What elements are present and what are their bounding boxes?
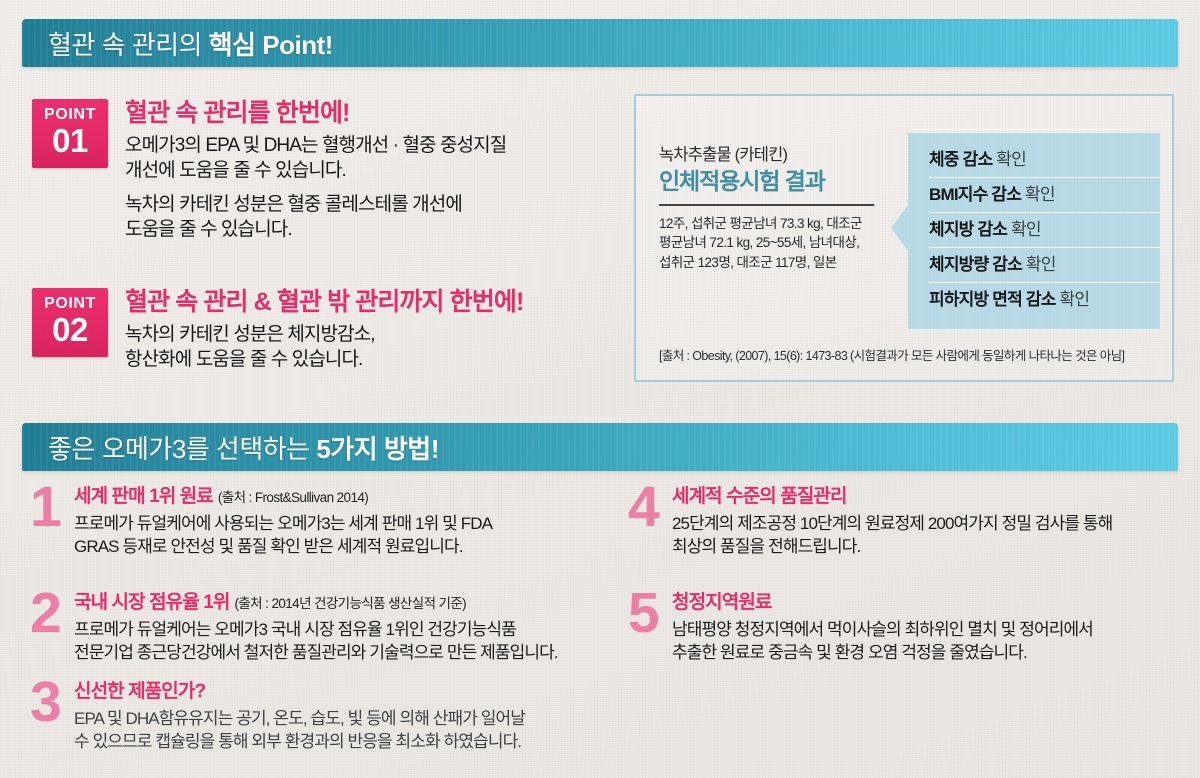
clinical-study-box: 녹차추출물 (카테킨) 인체적용시험 결과 12주, 섭취군 평균남녀 73.3…: [634, 94, 1174, 382]
reason-2-line-1: 프로메가 듀얼케어는 오메가3 국내 시장 점유율 1위인 건강기능식품: [74, 618, 558, 641]
reason-5-line-2: 추출한 원료로 중금속 및 환경 오염 걱정을 줄였습니다.: [672, 641, 1093, 664]
point-title-02: 혈관 속 관리 & 혈관 밖 관리까지 한번에!: [125, 288, 523, 318]
reason-4-line-1: 25단계의 제조공정 10단계의 원료정제 200여가지 정밀 검사를 통해: [672, 512, 1112, 535]
reason-heading-4: 세계적 수준의 품질관리: [672, 486, 1112, 509]
result-item: 체지방량 감소 확인: [929, 248, 1160, 283]
reason-item-5: 5 청정지역원료 남태평양 청정지역에서 먹이사슬의 최하위인 멸치 및 정어리…: [628, 592, 1093, 664]
point-paragraph-01-a: 오메가3의 EPA 및 DHA는 혈행개선 · 혈중 중성지질 개선에 도움을 …: [125, 133, 506, 184]
result-item: 피하지방 면적 감소 확인: [929, 283, 1160, 317]
reason-heading-2-text: 국내 시장 점유율 1위: [74, 592, 229, 613]
reason-heading-1: 세계 판매 1위 원료(출처 : Frost&Sullivan 2014): [74, 486, 492, 509]
section-header-five-ways: 좋은 오메가3를 선택하는 5가지 방법!: [22, 423, 1178, 471]
point-01-a-line-2: 개선에 도움을 줄 수 있습니다.: [125, 158, 506, 183]
reason-item-4: 4 세계적 수준의 품질관리 25단계의 제조공정 10단계의 원료정제 200…: [628, 486, 1112, 558]
reason-number-1: 1: [30, 484, 70, 531]
point-paragraph-01-b: 녹차의 카테킨 성분은 혈중 콜레스테롤 개선에 도움을 줄 수 있습니다.: [125, 192, 506, 243]
reason-heading-2-note: (출처 : 2014년 건강기능식품 생산실적 기준): [234, 596, 466, 611]
point-02-a-line-2: 항산화에 도움을 줄 수 있습니다.: [125, 347, 523, 372]
reason-text-5: 남태평양 청정지역에서 먹이사슬의 최하위인 멸치 및 정어리에서 추출한 원료…: [672, 618, 1093, 664]
point-01-b-line-2: 도움을 줄 수 있습니다.: [125, 217, 506, 242]
reason-item-3: 3 신선한 제품인가? EPA 및 DHA함유유지는 공기, 온도, 습도, 빛…: [30, 681, 525, 753]
reason-number-4: 4: [628, 484, 668, 531]
section-header-1-strong: 핵심 Point!: [209, 30, 333, 60]
reason-text-2: 프로메가 듀얼케어는 오메가3 국내 시장 점유율 1위인 건강기능식품 전문기…: [74, 618, 558, 664]
point-badge-02-number: 02: [32, 313, 108, 348]
reason-2-line-2: 전문기업 종근당건강에서 철저한 품질관리와 기술력으로 만든 제품입니다.: [74, 641, 558, 664]
reason-number-3: 3: [30, 679, 70, 726]
result-item-main: 체지방 감소: [929, 220, 1007, 239]
reason-heading-4-text: 세계적 수준의 품질관리: [672, 486, 847, 507]
reason-item-2: 2 국내 시장 점유율 1위(출처 : 2014년 건강기능식품 생산실적 기준…: [30, 592, 558, 664]
reason-3-line-1: EPA 및 DHA함유유지는 공기, 온도, 습도, 빛 등에 의해 산패가 일…: [74, 707, 525, 730]
point-block-02: POINT 02 혈관 속 관리 & 혈관 밖 관리까지 한번에! 녹차의 카테…: [32, 288, 523, 372]
reason-heading-1-note: (출처 : Frost&Sullivan 2014): [218, 490, 368, 505]
result-item-main: BMI지수 감소: [929, 185, 1021, 204]
reason-1-line-2: GRAS 등재로 안전성 및 품질 확인 받은 세계적 원료입니다.: [74, 535, 492, 558]
section-header-core-points: 혈관 속 관리의 핵심 Point!: [22, 19, 1178, 67]
point-title-01: 혈관 속 관리를 한번에!: [125, 99, 506, 129]
reason-text-1: 프로메가 듀얼케어에 사용되는 오메가3는 세계 판매 1위 및 FDA GRA…: [74, 512, 492, 558]
reason-body-1: 세계 판매 1위 원료(출처 : Frost&Sullivan 2014) 프로…: [70, 486, 492, 558]
study-meta-line-3: 섭취군 123명, 대조군 117명, 일본: [659, 253, 927, 272]
section-header-2-strong: 5가지 방법!: [316, 434, 439, 464]
reason-4-line-2: 최상의 품질을 전해드립니다.: [672, 535, 1112, 558]
study-meta: 12주, 섭취군 평균남녀 73.3 kg, 대조군 평균남녀 72.1 kg,…: [659, 214, 927, 271]
reason-heading-1-text: 세계 판매 1위 원료: [74, 486, 213, 507]
result-item: BMI지수 감소 확인: [929, 178, 1160, 213]
reason-text-3: EPA 및 DHA함유유지는 공기, 온도, 습도, 빛 등에 의해 산패가 일…: [74, 707, 525, 753]
point-01-a-line-1: 오메가3의 EPA 및 DHA는 혈행개선 · 혈중 중성지질: [125, 133, 506, 158]
study-meta-line-2: 평균남녀 72.1 kg, 25~55세, 남녀대상,: [659, 233, 927, 252]
reason-body-5: 청정지역원료 남태평양 청정지역에서 먹이사슬의 최하위인 멸치 및 정어리에서…: [668, 592, 1093, 664]
result-item-suffix: 확인: [1025, 185, 1055, 204]
reason-heading-3-text: 신선한 제품인가?: [74, 681, 205, 702]
study-source-citation: [출처 : Obesity, (2007), 15(6): 1473-83 (시…: [659, 345, 1124, 364]
point-body-01: 혈관 속 관리를 한번에! 오메가3의 EPA 및 DHA는 혈행개선 · 혈중…: [108, 99, 506, 243]
point-body-02: 혈관 속 관리 & 혈관 밖 관리까지 한번에! 녹차의 카테킨 성분은 체지방…: [108, 288, 523, 372]
result-item-main: 체중 감소: [929, 150, 992, 169]
result-item-main: 피하지방 면적 감소: [929, 290, 1056, 309]
reason-5-line-1: 남태평양 청정지역에서 먹이사슬의 최하위인 멸치 및 정어리에서: [672, 618, 1093, 641]
reason-body-3: 신선한 제품인가? EPA 및 DHA함유유지는 공기, 온도, 습도, 빛 등…: [70, 681, 525, 753]
reason-1-line-1: 프로메가 듀얼케어에 사용되는 오메가3는 세계 판매 1위 및 FDA: [74, 512, 492, 535]
result-item: 체지방 감소 확인: [929, 213, 1160, 248]
result-item-main: 체지방량 감소: [929, 255, 1022, 274]
reason-heading-5: 청정지역원료: [672, 592, 1093, 615]
result-item-suffix: 확인: [1011, 220, 1041, 239]
study-divider: [659, 204, 874, 206]
reason-3-line-2: 수 있으므로 캡슐링을 통해 외부 환경과의 반응을 최소화 하였습니다.: [74, 730, 525, 753]
result-item-suffix: 확인: [1026, 255, 1056, 274]
reason-heading-3: 신선한 제품인가?: [74, 681, 525, 704]
study-kicker: 녹차추출물 (카테킨): [659, 145, 927, 166]
study-summary: 녹차추출물 (카테킨) 인체적용시험 결과 12주, 섭취군 평균남녀 73.3…: [659, 145, 927, 272]
section-header-1-text: 혈관 속 관리의 핵심 Point!: [22, 25, 333, 62]
section-header-2-lead: 좋은 오메가3를 선택하는: [48, 434, 316, 464]
point-block-01: POINT 01 혈관 속 관리를 한번에! 오메가3의 EPA 및 DHA는 …: [32, 99, 506, 243]
reason-heading-5-text: 청정지역원료: [672, 592, 771, 613]
point-badge-02: POINT 02: [32, 288, 108, 357]
study-meta-line-1: 12주, 섭취군 평균남녀 73.3 kg, 대조군: [659, 214, 927, 233]
point-01-b-line-1: 녹차의 카테킨 성분은 혈중 콜레스테롤 개선에: [125, 192, 506, 217]
reason-heading-2: 국내 시장 점유율 1위(출처 : 2014년 건강기능식품 생산실적 기준): [74, 592, 558, 615]
point-badge-01-number: 01: [32, 124, 108, 159]
poster-page: 혈관 속 관리의 핵심 Point! POINT 01 혈관 속 관리를 한번에…: [0, 0, 1200, 778]
reason-body-4: 세계적 수준의 품질관리 25단계의 제조공정 10단계의 원료정제 200여가…: [668, 486, 1112, 558]
result-item-suffix: 확인: [1060, 290, 1090, 309]
reason-item-1: 1 세계 판매 1위 원료(출처 : Frost&Sullivan 2014) …: [30, 486, 492, 558]
reason-number-2: 2: [30, 590, 70, 637]
reason-number-5: 5: [628, 590, 668, 637]
result-item-suffix: 확인: [996, 150, 1026, 169]
point-02-a-line-1: 녹차의 카테킨 성분은 체지방감소,: [125, 322, 523, 347]
section-header-1-lead: 혈관 속 관리의: [48, 30, 209, 60]
study-results-panel: 체중 감소 확인 BMI지수 감소 확인 체지방 감소 확인 체지방량 감소 확…: [908, 133, 1160, 329]
section-header-2-text: 좋은 오메가3를 선택하는 5가지 방법!: [22, 429, 439, 466]
point-paragraph-02-a: 녹차의 카테킨 성분은 체지방감소, 항산화에 도움을 줄 수 있습니다.: [125, 322, 523, 373]
point-badge-01: POINT 01: [32, 99, 108, 168]
study-title: 인체적용시험 결과: [659, 168, 927, 196]
result-item: 체중 감소 확인: [929, 143, 1160, 178]
reason-body-2: 국내 시장 점유율 1위(출처 : 2014년 건강기능식품 생산실적 기준) …: [70, 592, 558, 664]
reason-text-4: 25단계의 제조공정 10단계의 원료정제 200여가지 정밀 검사를 통해 최…: [672, 512, 1112, 558]
